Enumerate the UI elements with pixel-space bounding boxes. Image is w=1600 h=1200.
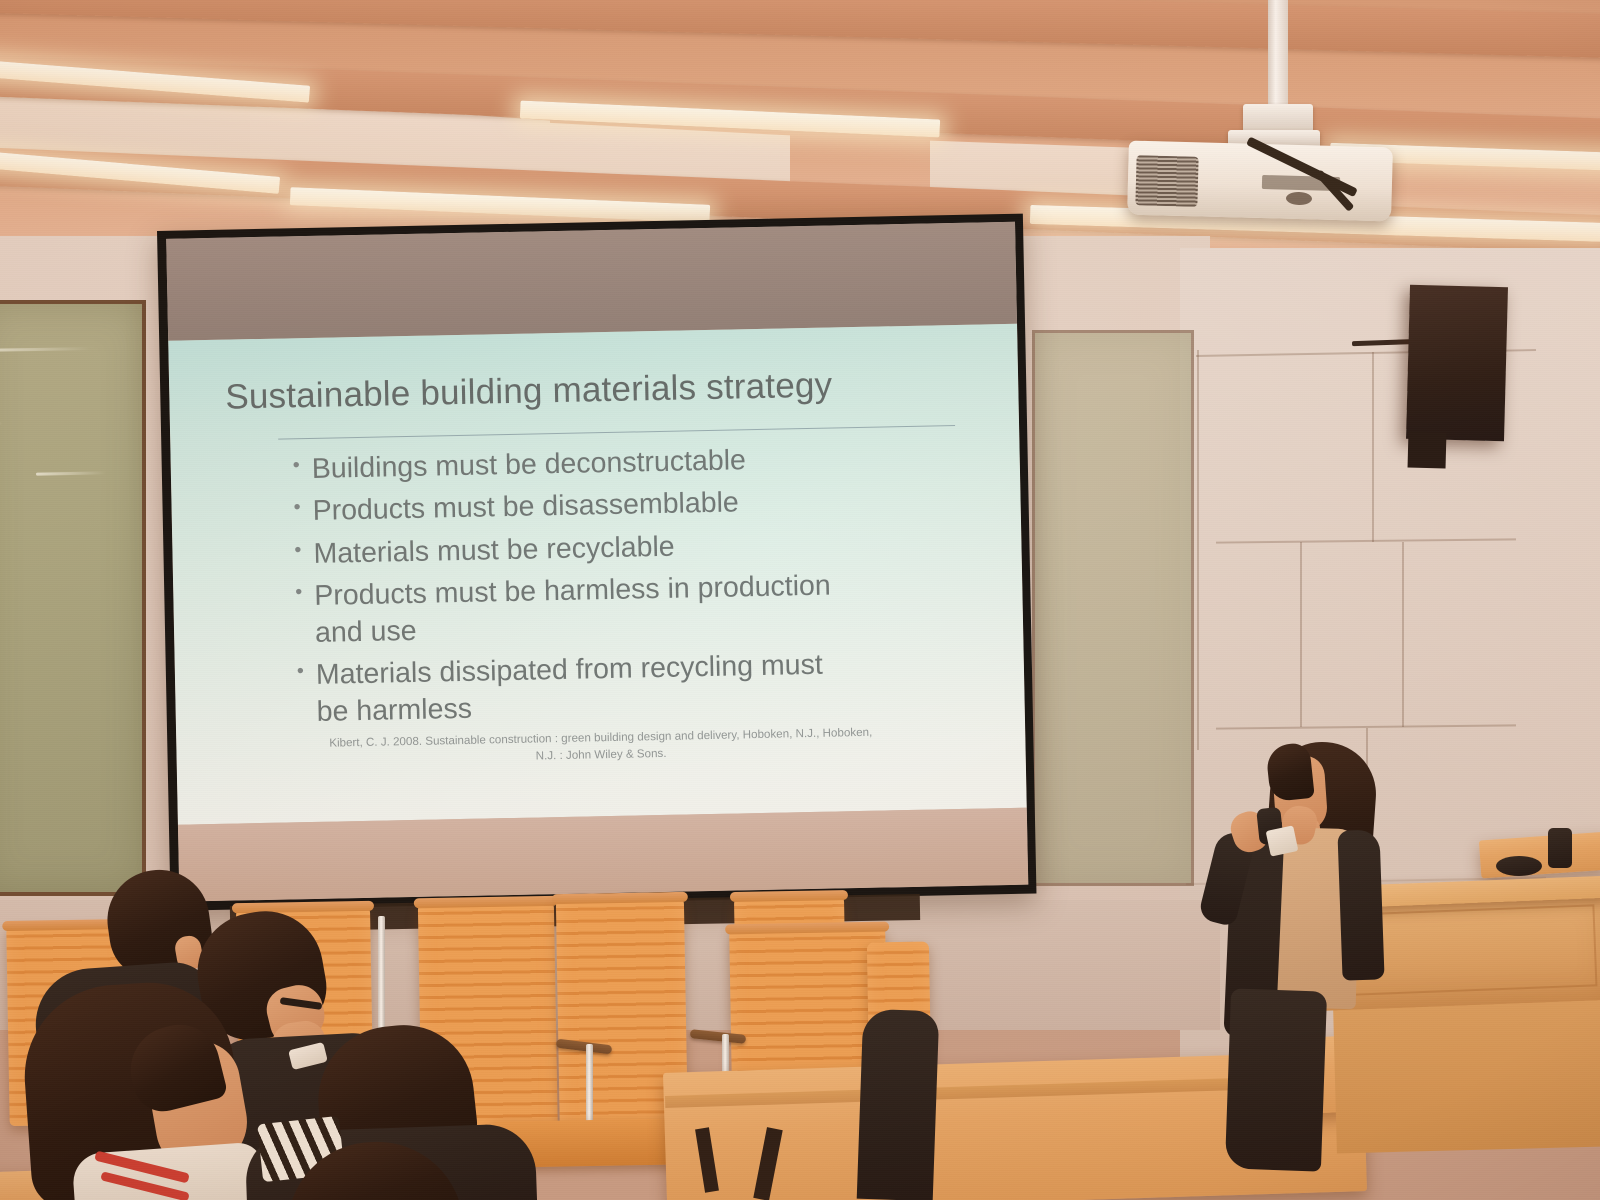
- presentation-slide: Sustainable building materials strategy …: [168, 324, 1027, 825]
- slide-citation: Kibert, C. J. 2008. Sustainable construc…: [232, 723, 970, 771]
- bullet-text: Buildings must be deconstructable: [311, 440, 852, 487]
- presenter-legs: [1225, 988, 1327, 1171]
- bullet-dot-icon: •: [297, 657, 305, 686]
- chair-top-cap: [730, 890, 848, 902]
- screen-letterbox-bottom: [178, 808, 1028, 902]
- presenter-blazer-right: [1337, 829, 1384, 980]
- projector-vent: [1135, 155, 1198, 207]
- list-item: • Materials dissipated from recycling mu…: [297, 644, 969, 730]
- bullet-text: Products must be disassemblable: [312, 483, 853, 530]
- list-item: • Materials must be recyclable: [294, 523, 966, 573]
- right-green-panel: [1032, 330, 1194, 886]
- chalkboard: [0, 300, 146, 896]
- microphone-stand: [1548, 828, 1572, 868]
- projector-lens: [1286, 192, 1312, 206]
- projection-screen-frame: Sustainable building materials strategy …: [157, 214, 1036, 911]
- projection-screen-surface: Sustainable building materials strategy …: [166, 222, 1028, 902]
- slide-bullet-list: • Buildings must be deconstructable • Pr…: [226, 438, 968, 732]
- list-item: • Products must be disassemblable: [293, 480, 965, 530]
- audience-person-6-body: [857, 1009, 940, 1200]
- screen-letterbox-top: [166, 222, 1017, 341]
- bullet-dot-icon: •: [295, 579, 303, 608]
- slide-title-rule: [278, 425, 955, 440]
- presenter-hair-front: [1265, 742, 1315, 802]
- lecture-hall-scene: Sustainable building materials strategy …: [0, 0, 1600, 1200]
- far-right-table[interactable]: [1479, 832, 1600, 879]
- wall-panel-seam-v2: [1372, 352, 1374, 542]
- wall-panel-seam-v4: [1402, 542, 1404, 727]
- bullet-dot-icon: •: [292, 451, 300, 480]
- bullet-dot-icon: •: [293, 494, 301, 523]
- speaker-mount-foot: [1408, 432, 1447, 469]
- slide-title: Sustainable building materials strategy: [225, 363, 963, 418]
- list-item: • Buildings must be deconstructable: [292, 438, 964, 488]
- list-item: • Products must be harmless in productio…: [295, 565, 967, 651]
- chair-4-post: [586, 1044, 593, 1130]
- wall-panel-seam-v1: [1197, 350, 1199, 750]
- bullet-text: Materials dissipated from recycling must…: [316, 646, 857, 730]
- cable-coil: [1496, 856, 1542, 876]
- bullet-dot-icon: •: [294, 536, 302, 565]
- wall-panel-seam-v3: [1300, 542, 1302, 727]
- bullet-text: Products must be harmless in production …: [314, 567, 855, 651]
- wall-speaker: [1406, 285, 1508, 442]
- bullet-text: Materials must be recyclable: [313, 525, 854, 572]
